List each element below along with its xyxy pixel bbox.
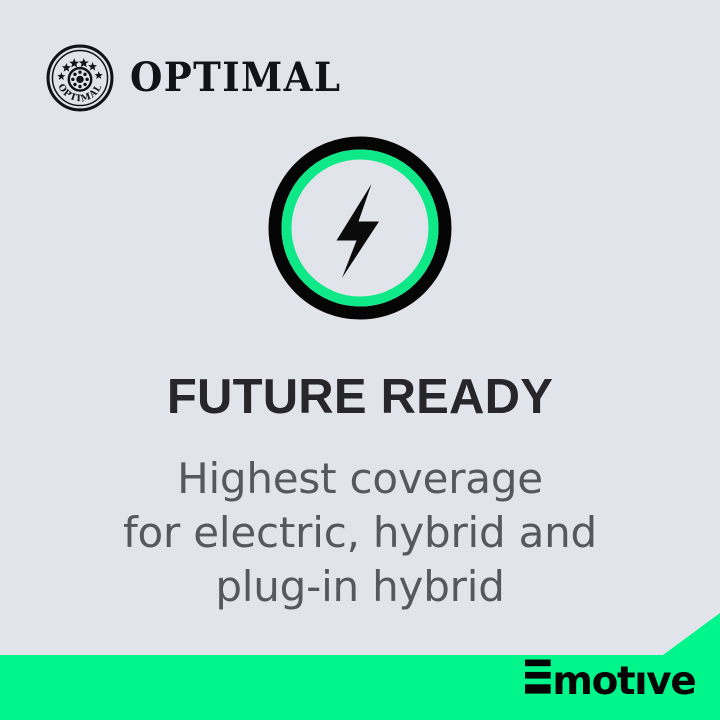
page-title: FUTURE READY — [0, 372, 720, 423]
brand-wordmark: OPTIMAL — [130, 58, 341, 98]
brand-header: OPTIMAL OPTIMAL — [46, 44, 357, 112]
subheading: Highest coverage for electric, hybrid an… — [0, 452, 720, 613]
lightning-badge — [268, 136, 452, 320]
emotive-logo: motıve — [525, 656, 698, 702]
subheading-line: plug-in hybrid — [0, 560, 720, 614]
optimal-seal-icon: OPTIMAL — [46, 44, 114, 112]
subheading-line: for electric, hybrid and — [0, 506, 720, 560]
lightning-bolt-icon — [337, 184, 380, 278]
poster-canvas: OPTIMAL OPTIMAL FUTURE READY Highest cov… — [0, 0, 720, 720]
subheading-line: Highest coverage — [0, 452, 720, 506]
emotive-logo-text: motıve — [552, 659, 695, 702]
